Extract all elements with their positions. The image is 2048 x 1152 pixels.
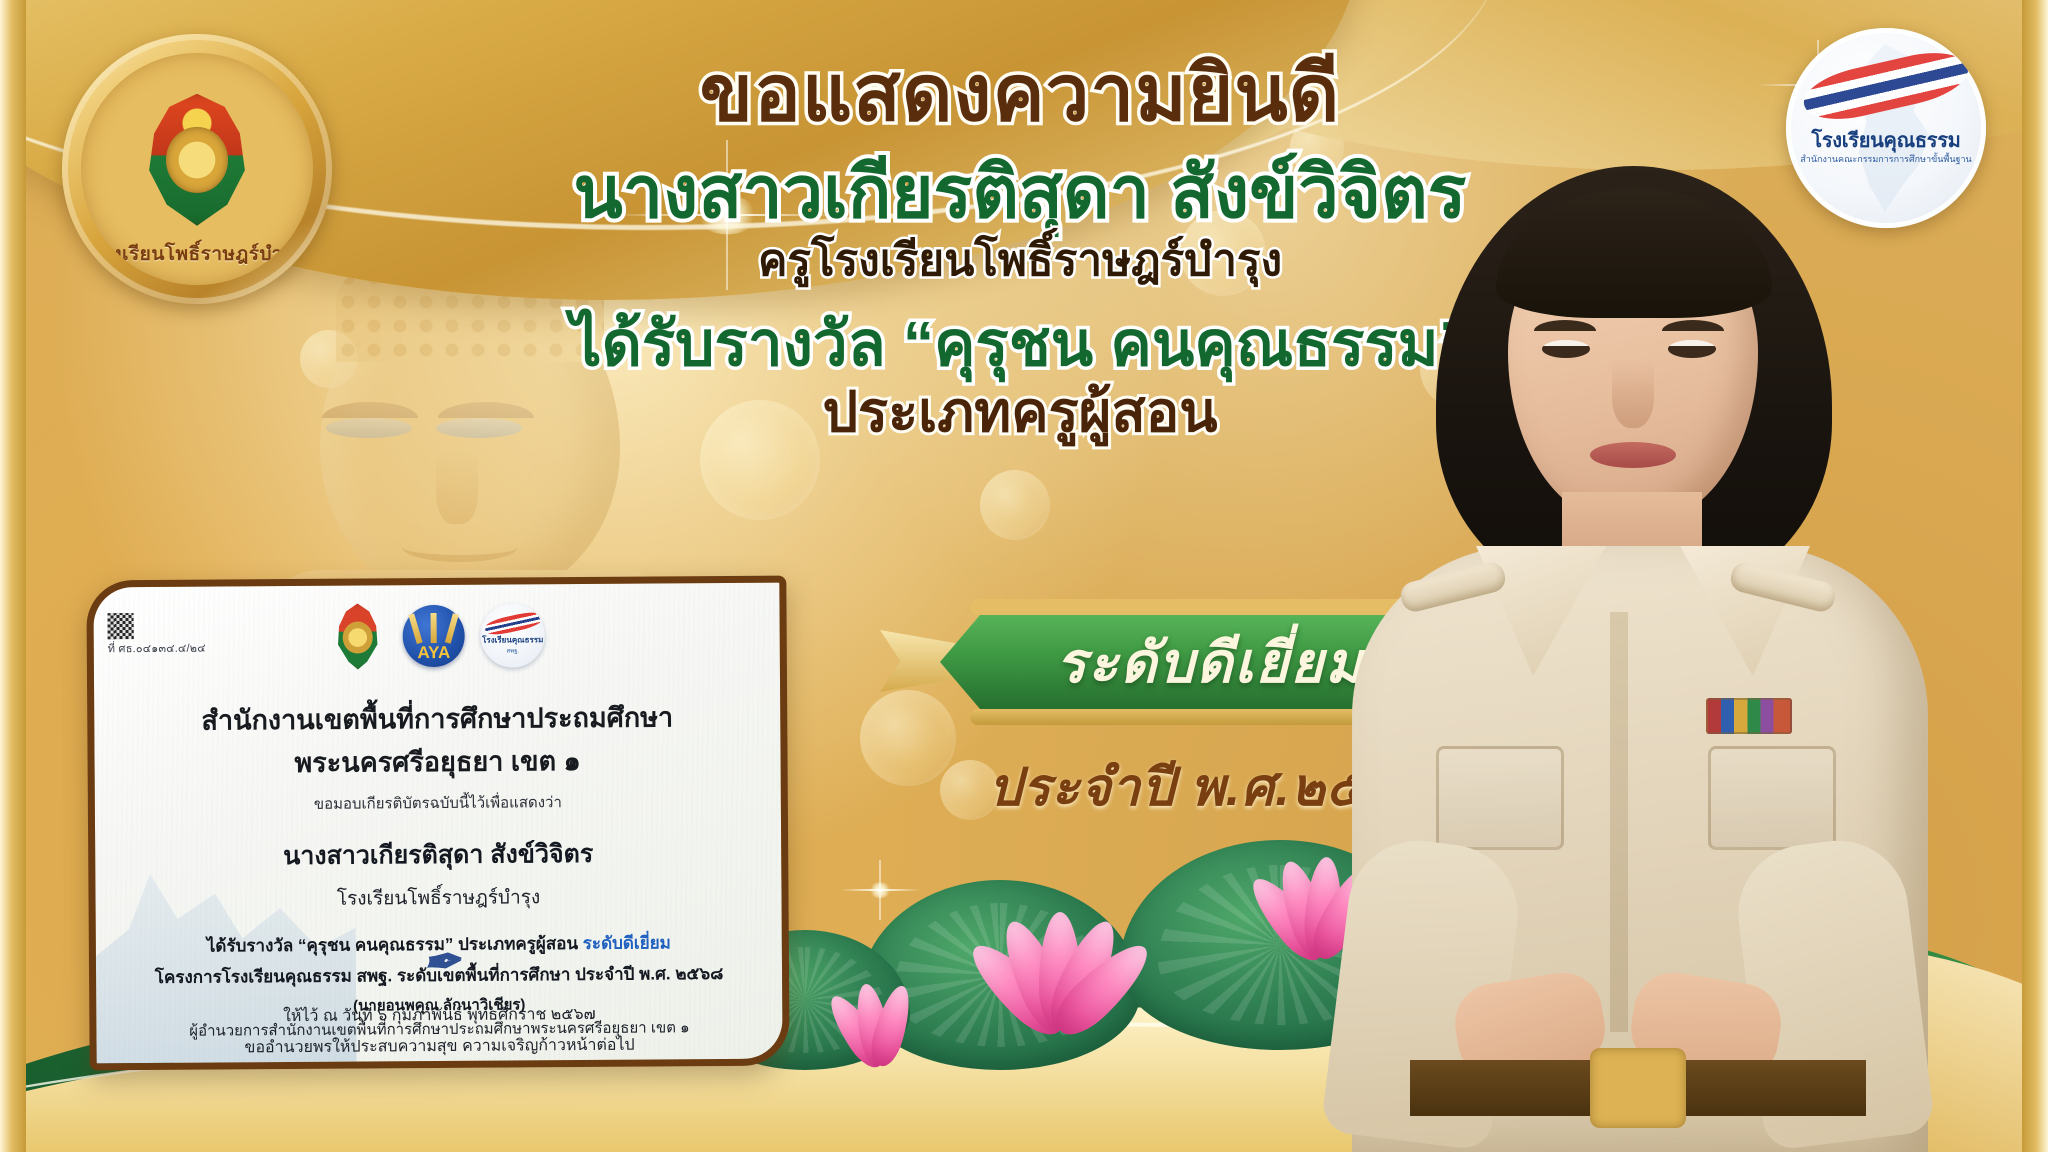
school-crest-icon [134, 94, 260, 226]
certificate-inset: ที่ ศธ.๐๔๑๓๔.๔/๒๔ AYA โรงเรียนคุณธรรม สพ… [86, 576, 789, 1071]
aya-logo-label: AYA [417, 643, 450, 663]
lips [1590, 442, 1676, 468]
gold-frame-right [2022, 0, 2048, 1152]
belt-buckle-icon [1590, 1048, 1686, 1128]
service-ribbons-icon [1706, 698, 1792, 734]
aya-logo-icon: AYA [402, 605, 464, 667]
certificate-subtitle: ขอมอบเกียรติบัตรฉบับนี้ไว้เพื่อแสดงว่า [121, 789, 755, 817]
moral-school-small-logo: โรงเรียนคุณธรรม สพฐ. [480, 603, 544, 667]
gold-frame-left [0, 0, 26, 1152]
uniform-placket [1610, 612, 1628, 1032]
uniform-pocket-left [1436, 746, 1564, 850]
certificate-signer-role: ผู้อำนวยการสำนักงานเขตพื้นที่การศึกษาประ… [96, 1015, 782, 1044]
garuda-emblem-icon [328, 603, 386, 669]
recipient-portrait [1260, 142, 2000, 1152]
school-emblem-label: โรงเรียนโพธิ์ราษฎร์บำรุง [81, 239, 313, 269]
eye-right [1668, 340, 1716, 358]
eye-left [1542, 340, 1590, 358]
uniform-pocket-right [1708, 746, 1836, 850]
certificate-recipient-name: นางสาวเกียรติสุดา สังข์วิจิตร [121, 833, 755, 877]
congratulations-headline: ขอแสดงความยินดี [470, 52, 1570, 135]
moral-school-small-sub: สพฐ. [481, 645, 545, 655]
nose [1612, 360, 1654, 428]
certificate-logos: AYA โรงเรียนคุณธรรม สพฐ. [93, 601, 779, 672]
certificate-org: สำนักงานเขตพื้นที่การศึกษาประถมศึกษาพระน… [120, 695, 755, 785]
banner-stage: โรงเรียนโพธิ์ราษฎร์บำรุง โรงเรียนคุณธรรม… [0, 0, 2048, 1152]
school-emblem-logo: โรงเรียนโพธิ์ราษฎร์บำรุง [62, 34, 332, 304]
certificate-school: โรงเรียนโพธิ์ราษฎร์บำรุง [121, 881, 755, 915]
